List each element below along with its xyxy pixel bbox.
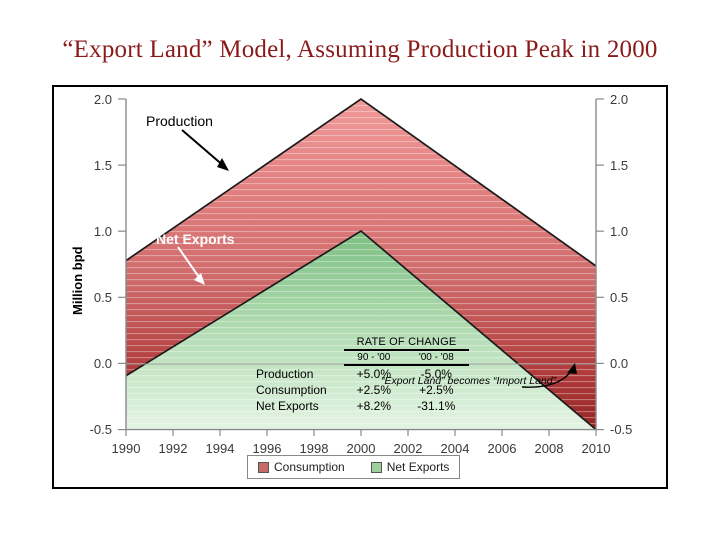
x-tick-3: 1996: [253, 441, 282, 456]
y-axis-title: Million bpd: [70, 246, 85, 315]
x-tick-2: 1994: [206, 441, 235, 456]
y-ticks-left: [118, 99, 126, 430]
x-tick-1: 1992: [159, 441, 188, 456]
y-tick-right-3: 0.5: [610, 290, 628, 305]
page-title: “Export Land” Model, Assuming Production…: [0, 36, 720, 64]
x-tick-8: 2006: [488, 441, 517, 456]
y-tick-right-5: -0.5: [610, 422, 632, 437]
y-tick-right-0: 2.0: [610, 92, 628, 107]
legend-swatch-consumption-icon: [258, 462, 269, 473]
rate-of-change-table: RATE OF CHANGE 90 - '00 '00 - '08 Produc…: [254, 335, 469, 414]
rate-table-col-1: 90 - '00: [344, 350, 404, 365]
x-tick-4: 1998: [300, 441, 329, 456]
net-exports-annotation: Net Exports: [156, 231, 235, 247]
table-row: Production +5.0% -5.0%: [254, 365, 469, 382]
x-tick-0: 1990: [112, 441, 141, 456]
y-tick-right-2: 1.0: [610, 224, 628, 239]
y-tick-left-0: 2.0: [94, 92, 112, 107]
slide-canvas: “Export Land” Model, Assuming Production…: [0, 0, 720, 540]
area-chart: 2.0 1.5 1.0 0.5 0.0 -0.5 2.0 1.5 1.0 0: [54, 87, 666, 487]
y-tick-left-4: 0.0: [94, 356, 112, 371]
rate-row-netexports-col2: -31.1%: [404, 398, 469, 414]
rate-row-netexports-col1: +8.2%: [344, 398, 404, 414]
rate-row-label-netexports: Net Exports: [254, 398, 344, 414]
legend-item-consumption[interactable]: Consumption: [258, 460, 345, 474]
chart-frame: 2.0 1.5 1.0 0.5 0.0 -0.5 2.0 1.5 1.0 0: [52, 85, 668, 489]
rate-row-production-col2: -5.0%: [404, 365, 469, 382]
rate-row-label-consumption: Consumption: [254, 382, 344, 398]
y-tick-left-3: 0.5: [94, 290, 112, 305]
rate-table-col-2: '00 - '08: [404, 350, 469, 365]
table-row: Consumption +2.5% +2.5%: [254, 382, 469, 398]
rate-row-consumption-col1: +2.5%: [344, 382, 404, 398]
y-ticks-right: [596, 99, 604, 430]
rate-table-title: RATE OF CHANGE: [344, 335, 469, 350]
x-tick-6: 2002: [394, 441, 423, 456]
x-tick-7: 2004: [441, 441, 470, 456]
chart-legend: Consumption Net Exports: [247, 455, 460, 479]
legend-label-net-exports: Net Exports: [387, 460, 450, 474]
y-tick-left-2: 1.0: [94, 224, 112, 239]
y-tick-right-1: 1.5: [610, 158, 628, 173]
production-annotation: Production: [146, 113, 213, 129]
y-tick-left-1: 1.5: [94, 158, 112, 173]
x-ticks: [126, 430, 596, 436]
legend-swatch-net-exports-icon: [371, 462, 382, 473]
production-arrow-icon: [182, 130, 229, 171]
y-tick-labels-right: 2.0 1.5 1.0 0.5 0.0 -0.5: [610, 92, 632, 437]
rate-row-label-production: Production: [254, 365, 344, 382]
x-tick-9: 2008: [535, 441, 564, 456]
y-tick-right-4: 0.0: [610, 356, 628, 371]
y-tick-left-5: -0.5: [90, 422, 112, 437]
x-tick-10: 2010: [582, 441, 611, 456]
x-tick-labels: 1990 1992 1994 1996 1998 2000 2002 2004 …: [112, 441, 611, 456]
legend-label-consumption: Consumption: [274, 460, 345, 474]
x-tick-5: 2000: [347, 441, 376, 456]
legend-item-net-exports[interactable]: Net Exports: [371, 460, 450, 474]
rate-row-production-col1: +5.0%: [344, 365, 404, 382]
table-row: Net Exports +8.2% -31.1%: [254, 398, 469, 414]
y-tick-labels-left: 2.0 1.5 1.0 0.5 0.0 -0.5: [90, 92, 112, 437]
rate-row-consumption-col2: +2.5%: [404, 382, 469, 398]
